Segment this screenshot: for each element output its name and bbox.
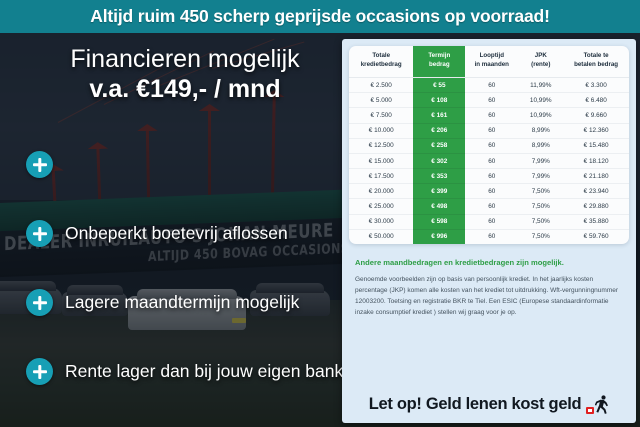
cell-krediet: € 30.000 bbox=[349, 214, 413, 229]
cell-krediet: € 5.000 bbox=[349, 93, 413, 108]
promo-bullet-label: Rente lager dan bij jouw eigen bank bbox=[65, 361, 343, 382]
cell-looptijd: 60 bbox=[465, 93, 518, 108]
table-row: € 50.000 € 996 60 7,50% € 59.760 bbox=[349, 229, 629, 244]
cell-jkp: 11,99% bbox=[518, 77, 563, 92]
cell-looptijd: 60 bbox=[465, 184, 518, 199]
banner-headline: Altijd ruim 450 scherp geprijsde occasio… bbox=[90, 6, 550, 27]
column-header-totaal: Totale te betalen bedrag bbox=[563, 46, 629, 77]
cell-totaal: € 12.360 bbox=[563, 123, 629, 138]
cell-termijn: € 108 bbox=[413, 93, 465, 108]
cell-jkp: 8,99% bbox=[518, 138, 563, 153]
cell-totaal: € 35.880 bbox=[563, 214, 629, 229]
promo-bullet-label: Onbeperkt boetevrij aflossen bbox=[65, 223, 288, 244]
red-box-icon bbox=[586, 407, 594, 414]
top-banner: Altijd ruim 450 scherp geprijsde occasio… bbox=[0, 0, 640, 33]
table-row: € 7.500 € 161 60 10,99% € 9.660 bbox=[349, 108, 629, 123]
cell-jkp: 7,50% bbox=[518, 184, 563, 199]
column-header-termijn: Termijn bedrag bbox=[413, 46, 465, 77]
cell-termijn: € 55 bbox=[413, 77, 465, 92]
header-line1: Termijn bbox=[428, 52, 450, 59]
header-line1: Totale te bbox=[584, 52, 609, 59]
plus-icon bbox=[26, 151, 53, 178]
cell-jkp: 10,99% bbox=[518, 108, 563, 123]
column-header-looptijd: Looptijd in maanden bbox=[465, 46, 518, 77]
cell-jkp: 7,99% bbox=[518, 169, 563, 184]
cell-totaal: € 15.480 bbox=[563, 138, 629, 153]
cell-totaal: € 23.940 bbox=[563, 184, 629, 199]
cell-jkp: 8,99% bbox=[518, 123, 563, 138]
promo-headline: Financieren mogelijk v.a. €149,- / mnd bbox=[30, 45, 340, 103]
promo-bullet-headline-marker bbox=[26, 151, 53, 178]
cell-looptijd: 60 bbox=[465, 169, 518, 184]
cell-jkp: 10,99% bbox=[518, 93, 563, 108]
cell-krediet: € 20.000 bbox=[349, 184, 413, 199]
cell-termijn: € 598 bbox=[413, 214, 465, 229]
table-row: € 15.000 € 302 60 7,99% € 18.120 bbox=[349, 153, 629, 168]
header-line1: JPK bbox=[535, 52, 547, 59]
rate-table: Totale kredietbedrag Termijn bedrag Loop… bbox=[349, 46, 629, 244]
cell-krediet: € 25.000 bbox=[349, 199, 413, 214]
cell-looptijd: 60 bbox=[465, 153, 518, 168]
cell-looptijd: 60 bbox=[465, 108, 518, 123]
cell-krediet: € 17.500 bbox=[349, 169, 413, 184]
cell-jkp: 7,99% bbox=[518, 153, 563, 168]
cell-looptijd: 60 bbox=[465, 199, 518, 214]
cell-termijn: € 302 bbox=[413, 153, 465, 168]
plus-icon bbox=[26, 220, 53, 247]
promo-headline-line1: Financieren mogelijk bbox=[30, 45, 340, 73]
cell-krediet: € 2.500 bbox=[349, 77, 413, 92]
cell-looptijd: 60 bbox=[465, 214, 518, 229]
credit-warning-logo bbox=[586, 395, 609, 414]
rate-table-card: Totale kredietbedrag Termijn bedrag Loop… bbox=[349, 46, 629, 244]
column-header-krediet: Totale kredietbedrag bbox=[349, 46, 413, 77]
cell-krediet: € 10.000 bbox=[349, 123, 413, 138]
promo-bullet-item: Rente lager dan bij jouw eigen bank bbox=[26, 358, 343, 385]
cell-totaal: € 21.180 bbox=[563, 169, 629, 184]
cell-termijn: € 498 bbox=[413, 199, 465, 214]
plus-icon bbox=[26, 358, 53, 385]
table-row: € 10.000 € 206 60 8,99% € 12.360 bbox=[349, 123, 629, 138]
cell-looptijd: 60 bbox=[465, 229, 518, 244]
table-row: € 25.000 € 498 60 7,50% € 29.880 bbox=[349, 199, 629, 214]
header-line2: betalen bedrag bbox=[574, 61, 618, 68]
cell-looptijd: 60 bbox=[465, 123, 518, 138]
credit-warning: Let op! Geld lenen kost geld bbox=[342, 395, 636, 423]
header-line2: bedrag bbox=[429, 61, 450, 68]
credit-warning-text: Let op! Geld lenen kost geld bbox=[369, 395, 582, 414]
cell-jkp: 7,50% bbox=[518, 214, 563, 229]
table-row: € 30.000 € 598 60 7,50% € 35.880 bbox=[349, 214, 629, 229]
cell-totaal: € 18.120 bbox=[563, 153, 629, 168]
header-line1: Looptijd bbox=[480, 52, 504, 59]
cell-totaal: € 9.660 bbox=[563, 108, 629, 123]
header-line2: kredietbedrag bbox=[361, 61, 402, 68]
cell-krediet: € 15.000 bbox=[349, 153, 413, 168]
table-row: € 12.500 € 258 60 8,99% € 15.480 bbox=[349, 138, 629, 153]
cell-termijn: € 258 bbox=[413, 138, 465, 153]
finance-panel: Totale kredietbedrag Termijn bedrag Loop… bbox=[342, 39, 636, 423]
cell-jkp: 7,50% bbox=[518, 199, 563, 214]
plus-icon bbox=[26, 289, 53, 316]
table-row: € 2.500 € 55 60 11,99% € 3.300 bbox=[349, 77, 629, 92]
header-line2: in maanden bbox=[475, 61, 509, 68]
walking-man-icon bbox=[595, 395, 609, 414]
cell-totaal: € 3.300 bbox=[563, 77, 629, 92]
table-row: € 17.500 € 353 60 7,99% € 21.180 bbox=[349, 169, 629, 184]
cell-termijn: € 206 bbox=[413, 123, 465, 138]
cell-krediet: € 12.500 bbox=[349, 138, 413, 153]
column-header-jkp: JPK (rente) bbox=[518, 46, 563, 77]
table-row: € 5.000 € 108 60 10,99% € 6.480 bbox=[349, 93, 629, 108]
table-row: € 20.000 € 399 60 7,50% € 23.940 bbox=[349, 184, 629, 199]
cell-termijn: € 996 bbox=[413, 229, 465, 244]
disclaimer-block: Andere maandbedragen en kredietbedragen … bbox=[342, 244, 636, 395]
cell-totaal: € 59.760 bbox=[563, 229, 629, 244]
cell-termijn: € 399 bbox=[413, 184, 465, 199]
promo-bullet-item: Lagere maandtermijn mogelijk bbox=[26, 289, 299, 316]
table-header-row: Totale kredietbedrag Termijn bedrag Loop… bbox=[349, 46, 629, 77]
promo-column: Financieren mogelijk v.a. €149,- / mnd O… bbox=[0, 33, 348, 427]
cell-jkp: 7,50% bbox=[518, 229, 563, 244]
disclaimer-title: Andere maandbedragen en kredietbedragen … bbox=[355, 258, 623, 268]
cell-krediet: € 50.000 bbox=[349, 229, 413, 244]
cell-termijn: € 161 bbox=[413, 108, 465, 123]
promo-bullet-label: Lagere maandtermijn mogelijk bbox=[65, 292, 299, 313]
header-line2: (rente) bbox=[531, 61, 550, 68]
cell-termijn: € 353 bbox=[413, 169, 465, 184]
cell-looptijd: 60 bbox=[465, 138, 518, 153]
promo-headline-line2: v.a. €149,- / mnd bbox=[30, 75, 340, 103]
cell-totaal: € 6.480 bbox=[563, 93, 629, 108]
cell-looptijd: 60 bbox=[465, 77, 518, 92]
cell-totaal: € 29.880 bbox=[563, 199, 629, 214]
promo-bullet-item: Onbeperkt boetevrij aflossen bbox=[26, 220, 288, 247]
header-line1: Totale bbox=[372, 52, 390, 59]
disclaimer-body: Genoemde voorbeelden zijn op basis van p… bbox=[355, 274, 623, 319]
cell-krediet: € 7.500 bbox=[349, 108, 413, 123]
